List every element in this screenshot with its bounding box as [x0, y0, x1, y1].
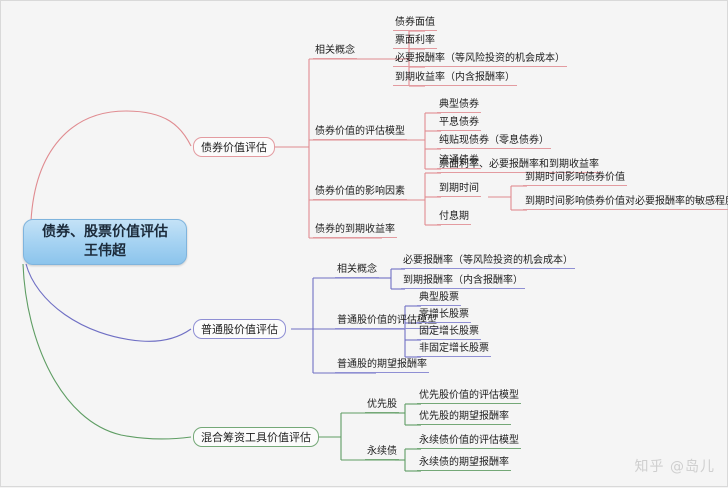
leaf-zero-coupon-bond[interactable]: 纯贴现债券（零息债券） [437, 136, 551, 149]
branch-node-hybrid[interactable]: 混合筹资工具价值评估 [193, 427, 319, 447]
leaf-preferred-expected-return[interactable]: 优先股的期望报酬率 [417, 412, 511, 425]
root-node[interactable]: 债券、股票价值评估 王伟超 [23, 219, 187, 265]
leaf-stock-ytm-irr[interactable]: 到期报酬率（内含报酬率） [401, 276, 525, 289]
branch-node-bond[interactable]: 债券价值评估 [193, 137, 275, 157]
leaf-bond-face-value[interactable]: 债券面值 [393, 18, 437, 31]
leaf-perpetual-expected-return[interactable]: 永续债的期望报酬率 [417, 458, 511, 471]
node-bond-model[interactable]: 债券价值的评估模型 [313, 127, 407, 140]
leaf-zero-growth-stock[interactable]: 零增长股票 [417, 310, 471, 323]
watermark: 知乎 @岛儿 [635, 456, 715, 476]
leaf-maturity-sensitivity[interactable]: 到期时间影响债券价值对必要报酬率的敏感程度 [523, 197, 728, 210]
leaf-nonconstant-growth-stock[interactable]: 非固定增长股票 [417, 344, 491, 357]
leaf-maturity-time[interactable]: 到期时间 [437, 184, 481, 197]
root-title-line2: 王伟超 [84, 242, 126, 261]
leaf-constant-growth-stock[interactable]: 固定增长股票 [417, 327, 481, 340]
node-bond-factors[interactable]: 债券价值的影响因素 [313, 187, 407, 200]
node-perpetual-bond[interactable]: 永续债 [365, 447, 399, 460]
branch-node-stock[interactable]: 普通股价值评估 [193, 319, 286, 339]
node-stock-expected-return[interactable]: 普通股的期望报酬率 [335, 360, 429, 373]
leaf-maturity-affects-value[interactable]: 到期时间影响债券价值 [523, 173, 627, 186]
node-stock-concepts[interactable]: 相关概念 [335, 265, 379, 278]
leaf-bond-ytm-irr[interactable]: 到期收益率（内含报酬率） [393, 73, 517, 86]
root-title-line1: 债券、股票价值评估 [42, 223, 168, 242]
leaf-stock-required-return[interactable]: 必要报酬率（等风险投资的机会成本） [401, 256, 575, 269]
leaf-bond-coupon-rate[interactable]: 票面利率 [393, 36, 437, 49]
leaf-typical-stock[interactable]: 典型股票 [417, 293, 461, 306]
mindmap-canvas: 债券、股票价值评估 王伟超 债券价值评估 普通股价值评估 混合筹资工具价值评估 … [0, 0, 728, 487]
leaf-typical-bond[interactable]: 典型债券 [437, 100, 481, 113]
leaf-interest-period[interactable]: 付息期 [437, 212, 471, 225]
leaf-perpetual-model[interactable]: 永续债价值的评估模型 [417, 436, 521, 449]
leaf-preferred-model[interactable]: 优先股价值的评估模型 [417, 391, 521, 404]
node-bond-ytm[interactable]: 债券的到期收益率 [313, 225, 397, 238]
node-bond-concepts[interactable]: 相关概念 [313, 46, 357, 59]
node-preferred-stock[interactable]: 优先股 [365, 400, 399, 413]
leaf-bond-required-return[interactable]: 必要报酬率（等风险投资的机会成本） [393, 54, 567, 67]
leaf-level-coupon-bond[interactable]: 平息债券 [437, 118, 481, 131]
